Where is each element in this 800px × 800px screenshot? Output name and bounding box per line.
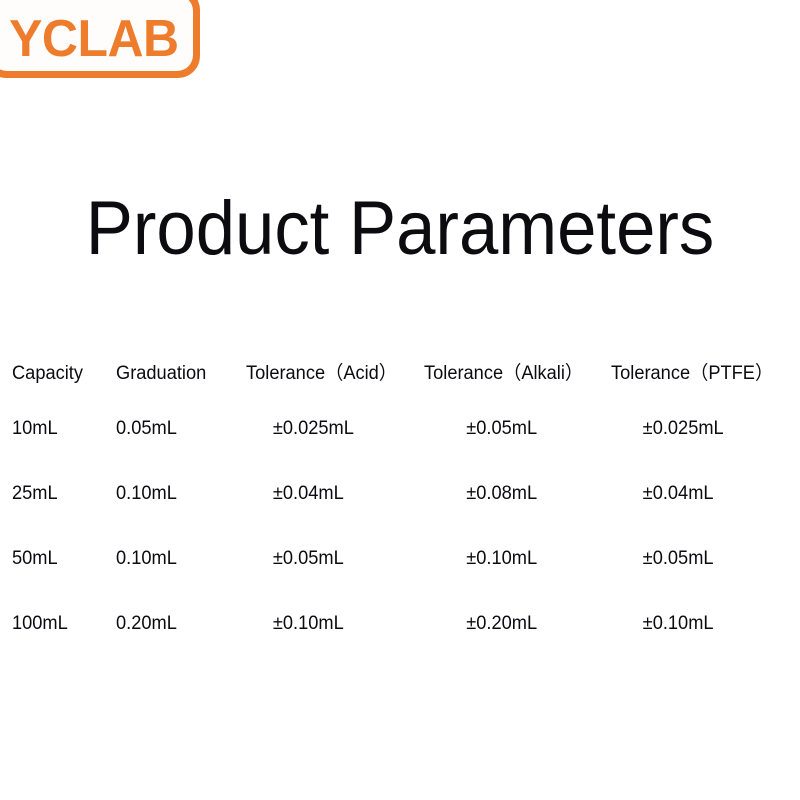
cell-tolerance-alkali: ±0.10mL: [424, 526, 604, 591]
brand-logo-text: YCLAB: [9, 13, 179, 65]
table-header: Capacity Graduation Tolerance（Acid） Tole…: [12, 352, 788, 396]
column-header-tolerance-acid: Tolerance（Acid）: [246, 352, 417, 396]
cell-tolerance-acid: ±0.05mL: [246, 526, 417, 591]
cell-graduation: 0.05mL: [116, 396, 241, 461]
column-header-tolerance-alkali: Tolerance（Alkali）: [424, 352, 604, 396]
cell-tolerance-ptfe: ±0.10mL: [611, 591, 781, 656]
column-header-tolerance-ptfe: Tolerance（PTFE）: [611, 352, 781, 396]
cell-tolerance-ptfe: ±0.04mL: [611, 461, 781, 526]
column-header-capacity: Capacity: [12, 352, 112, 396]
product-parameters-table: Capacity Graduation Tolerance（Acid） Tole…: [12, 352, 788, 656]
table-header-row: Capacity Graduation Tolerance（Acid） Tole…: [12, 352, 788, 396]
table-row: 10mL 0.05mL ±0.025mL ±0.05mL ±0.025mL: [12, 396, 788, 461]
table-row: 50mL 0.10mL ±0.05mL ±0.10mL ±0.05mL: [12, 526, 788, 591]
page-title: Product Parameters: [28, 186, 772, 272]
cell-capacity: 50mL: [12, 526, 112, 591]
table-body: 10mL 0.05mL ±0.025mL ±0.05mL ±0.025mL 25…: [12, 396, 788, 656]
cell-tolerance-alkali: ±0.20mL: [424, 591, 604, 656]
cell-graduation: 0.20mL: [116, 591, 241, 656]
cell-tolerance-ptfe: ±0.05mL: [611, 526, 781, 591]
brand-logo-inner: YCLAB: [0, 0, 193, 71]
cell-capacity: 10mL: [12, 396, 112, 461]
brand-logo: YCLAB: [0, 0, 200, 78]
cell-capacity: 100mL: [12, 591, 112, 656]
cell-graduation: 0.10mL: [116, 526, 241, 591]
column-header-graduation: Graduation: [116, 352, 241, 396]
cell-graduation: 0.10mL: [116, 461, 241, 526]
table-row: 100mL 0.20mL ±0.10mL ±0.20mL ±0.10mL: [12, 591, 788, 656]
cell-tolerance-acid: ±0.025mL: [246, 396, 417, 461]
table-row: 25mL 0.10mL ±0.04mL ±0.08mL ±0.04mL: [12, 461, 788, 526]
cell-tolerance-alkali: ±0.08mL: [424, 461, 604, 526]
cell-tolerance-acid: ±0.10mL: [246, 591, 417, 656]
cell-tolerance-alkali: ±0.05mL: [424, 396, 604, 461]
cell-capacity: 25mL: [12, 461, 112, 526]
cell-tolerance-ptfe: ±0.025mL: [611, 396, 781, 461]
cell-tolerance-acid: ±0.04mL: [246, 461, 417, 526]
